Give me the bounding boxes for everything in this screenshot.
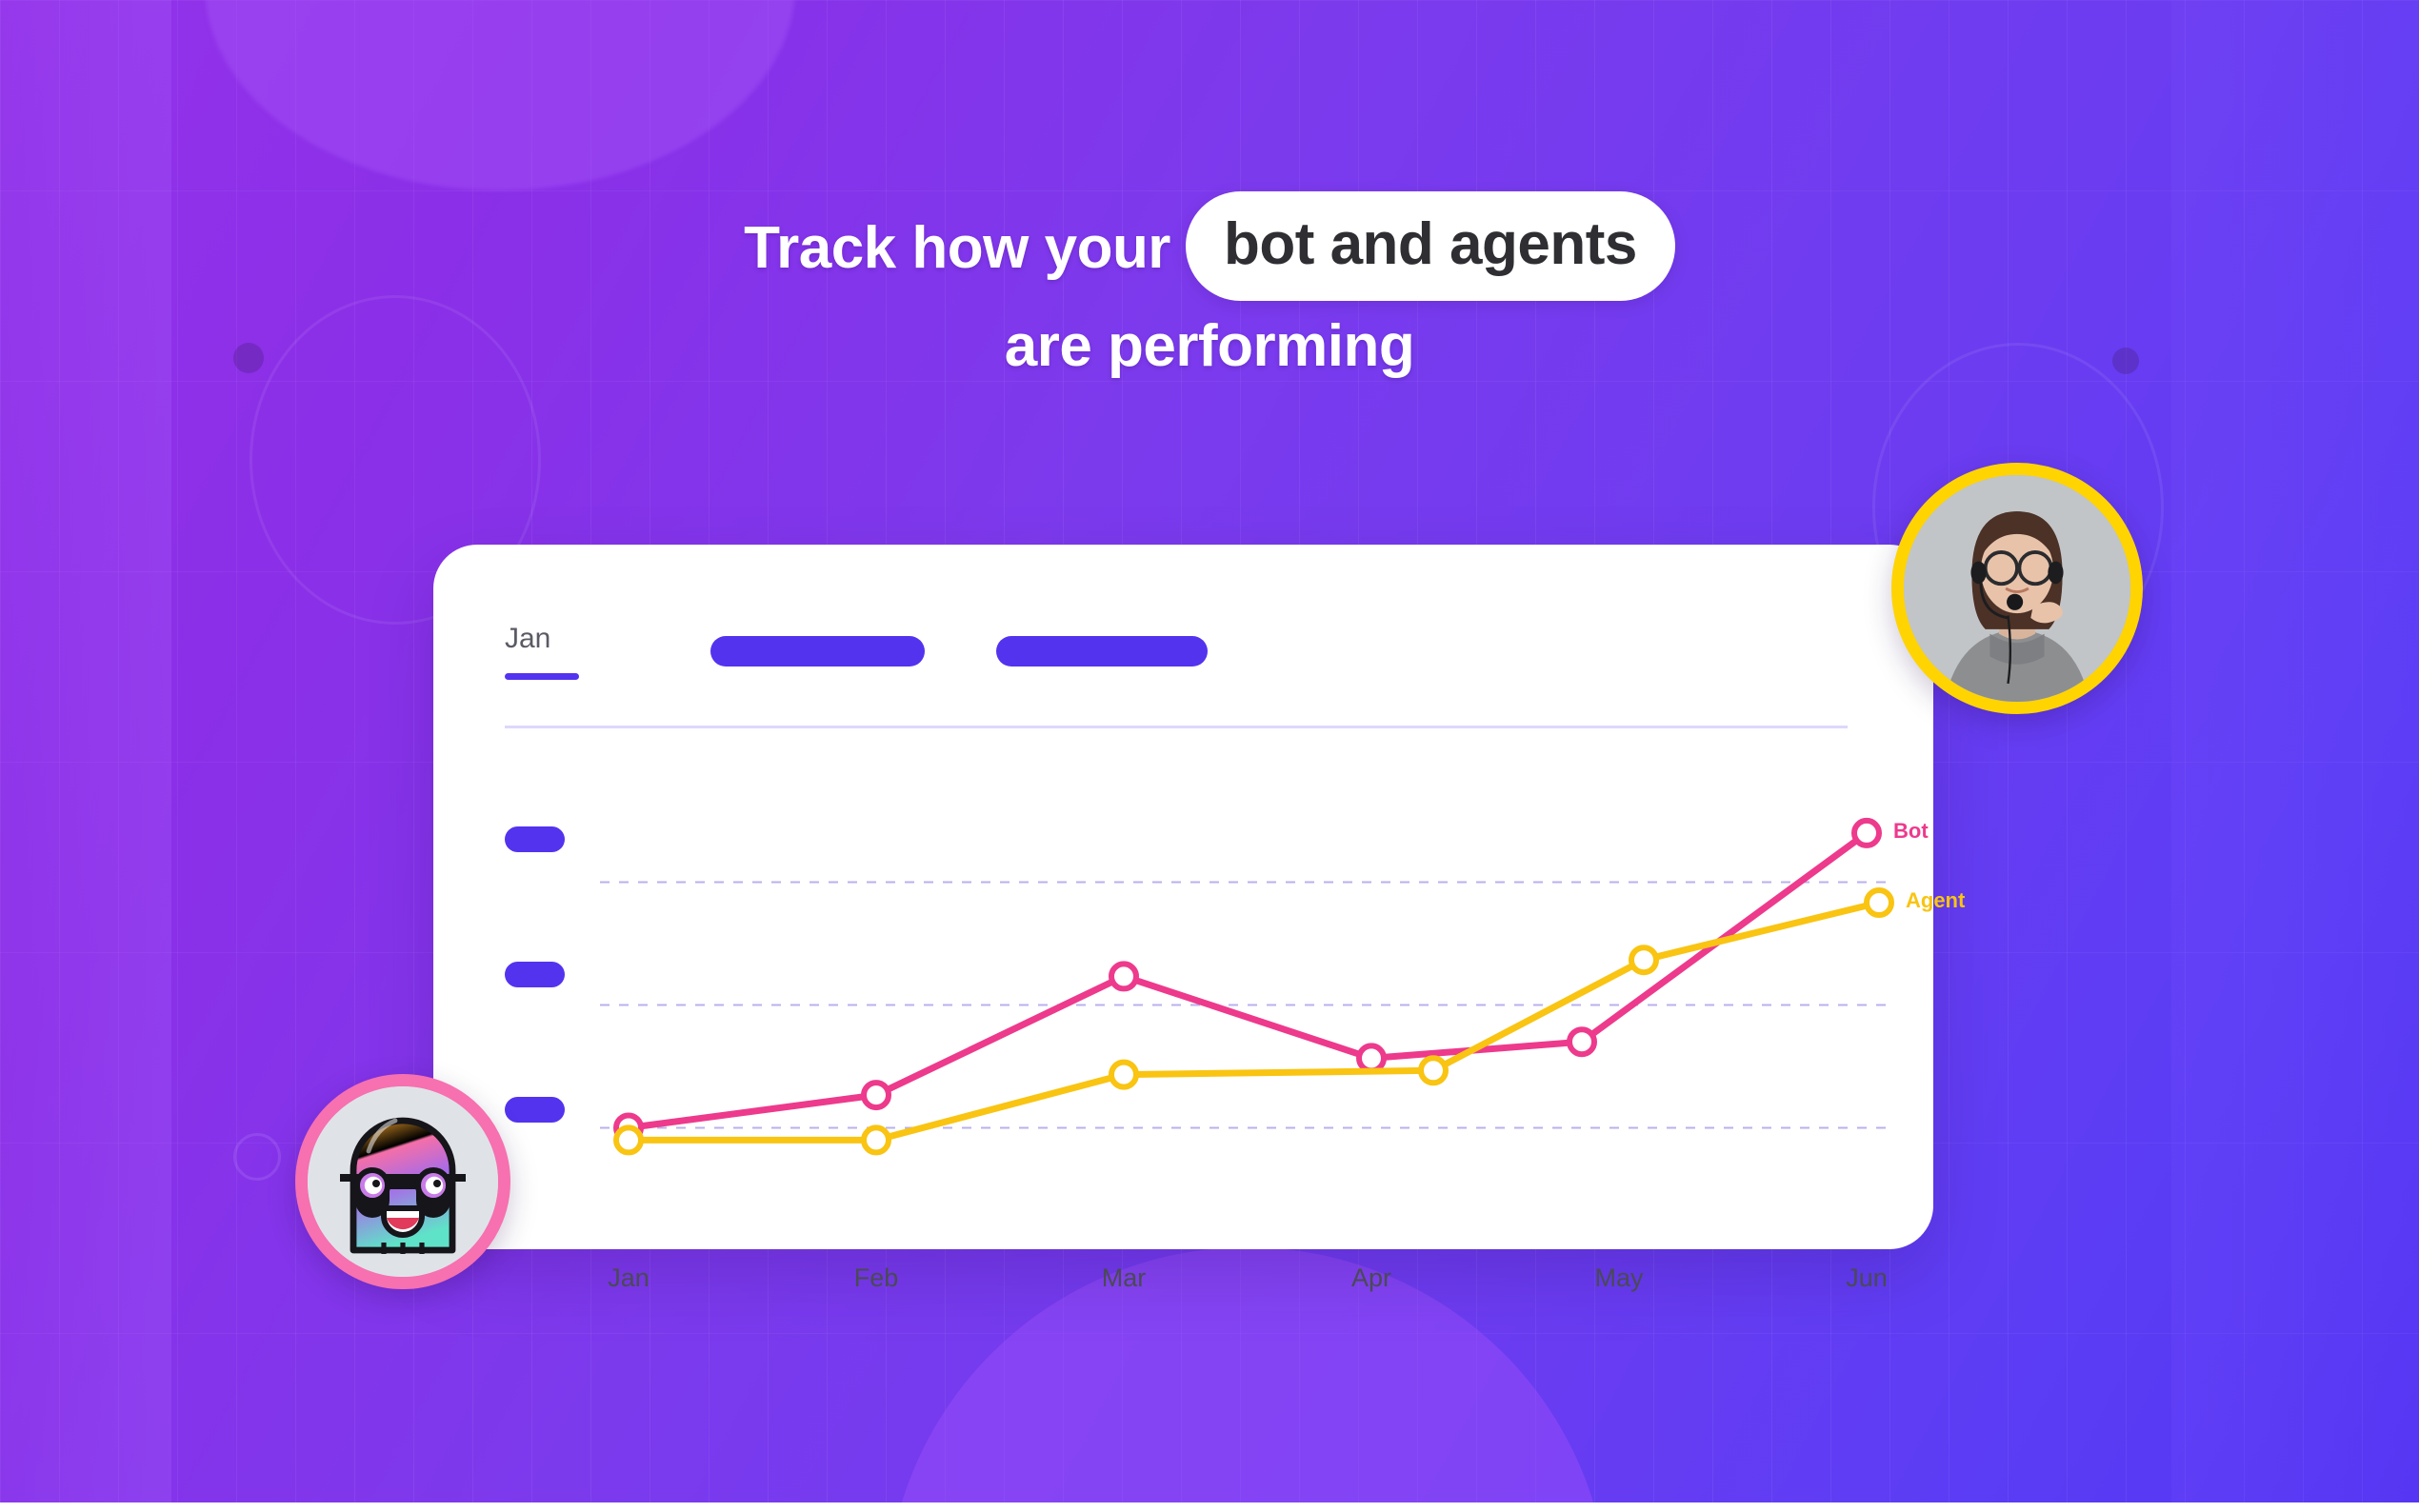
x-axis-label-mar: Mar <box>1102 1263 1147 1293</box>
tab-jan[interactable]: Jan <box>505 623 625 680</box>
page-title: Track how yourbot and agents are perform… <box>0 197 2419 386</box>
headline-line-1: Track how yourbot and agents <box>0 197 2419 307</box>
y-axis-placeholder-2 <box>505 962 565 987</box>
data-point[interactable] <box>1111 1063 1136 1087</box>
headline-line-2: are performing <box>0 307 2419 386</box>
y-axis-placeholder-3 <box>505 1097 565 1123</box>
headline-prefix: Track how your <box>744 214 1170 280</box>
background-circle-bottom <box>886 1247 1609 1512</box>
data-point[interactable] <box>1359 1045 1384 1070</box>
tab-jan-label: Jan <box>505 623 550 654</box>
header-placeholder-2 <box>996 636 1208 666</box>
agent-headset-photo <box>1904 475 2130 702</box>
data-point[interactable] <box>1569 1029 1594 1054</box>
x-axis-label-may: May <box>1594 1263 1643 1293</box>
bot-character-avatar <box>308 1086 498 1277</box>
card-header: Jan <box>505 623 1862 680</box>
background-circle-top <box>205 0 795 190</box>
x-axis-label-apr: Apr <box>1351 1263 1391 1293</box>
promo-banner: Track how yourbot and agents are perform… <box>0 0 2419 1512</box>
data-point[interactable] <box>616 1127 641 1152</box>
x-axis-label-feb: Feb <box>854 1263 899 1293</box>
data-point[interactable] <box>1421 1058 1446 1083</box>
series-label-agent: Agent <box>1906 888 1965 913</box>
chart-gridlines <box>600 883 1895 1128</box>
avatar-bot <box>295 1074 510 1289</box>
y-axis-placeholder-1 <box>505 826 565 852</box>
x-axis-label-jan: Jan <box>608 1263 650 1293</box>
card-header-divider <box>505 726 1848 728</box>
data-point[interactable] <box>864 1127 889 1152</box>
data-point[interactable] <box>1854 821 1879 846</box>
analytics-card: Jan BotAgent JanFebMarAprMayJun <box>433 545 1933 1249</box>
data-point[interactable] <box>864 1083 889 1107</box>
avatar-agent <box>1891 463 2143 714</box>
line-chart: BotAgent JanFebMarAprMayJun <box>629 821 1867 1230</box>
series-line-bot <box>629 833 1867 1128</box>
line-chart-canvas <box>629 821 1867 1230</box>
headline-badge: bot and agents <box>1186 191 1675 301</box>
data-point[interactable] <box>1631 947 1656 972</box>
data-point[interactable] <box>1111 964 1136 988</box>
data-point[interactable] <box>1867 890 1891 915</box>
background-small-ring <box>233 1133 281 1181</box>
x-axis-label-jun: Jun <box>1846 1263 1888 1293</box>
chart-series-layer <box>616 821 1891 1153</box>
bottom-white-strip <box>0 1502 2419 1512</box>
header-placeholder-1 <box>710 636 925 666</box>
series-label-bot: Bot <box>1893 819 1929 844</box>
